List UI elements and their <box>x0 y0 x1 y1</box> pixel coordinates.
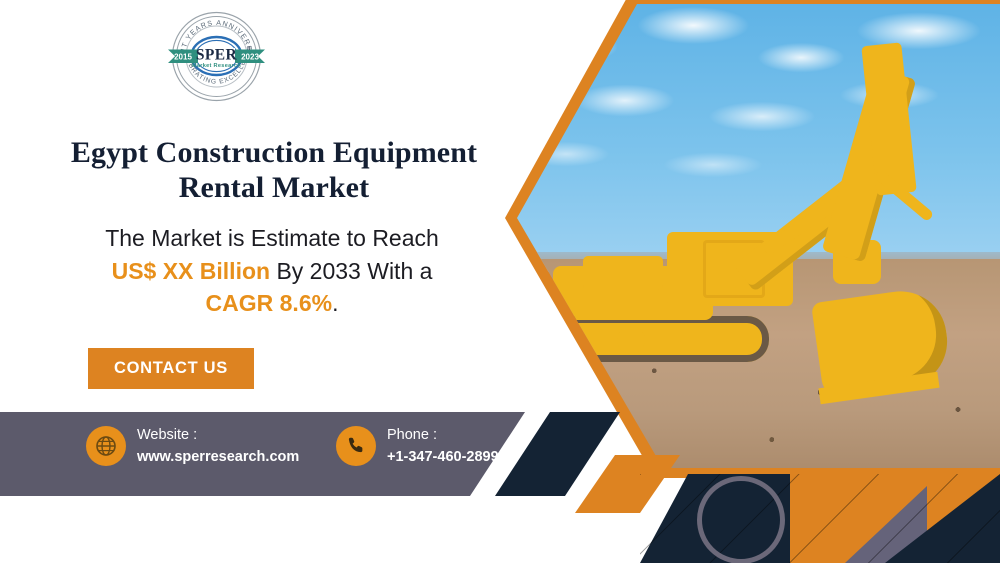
subtitle-line-3-rest: . <box>332 290 338 316</box>
hero-image-hexagon <box>505 0 1000 478</box>
globe-glyph <box>95 435 117 457</box>
svg-text:Market Research: Market Research <box>192 63 242 69</box>
globe-icon <box>86 426 126 466</box>
website-label: Website : <box>137 427 197 443</box>
value-highlight: US$ XX Billion <box>112 258 270 284</box>
website-contact[interactable]: Website : www.sperresearch.com <box>86 424 299 467</box>
phone-label: Phone : <box>387 427 437 443</box>
phone-contact[interactable]: Phone : +1-347-460-2899 <box>336 424 499 467</box>
contact-us-button[interactable]: CONTACT US <box>88 348 254 389</box>
svg-text:2023: 2023 <box>241 53 259 62</box>
title-line-2: Rental Market <box>44 171 504 206</box>
excavator-engine-cover <box>583 256 663 290</box>
cagr-highlight: CAGR 8.6% <box>206 290 333 316</box>
svg-text:®: ® <box>247 45 251 52</box>
svg-text:2015: 2015 <box>174 53 192 62</box>
decor-diagonal-lines <box>640 474 1000 563</box>
phone-glyph <box>346 435 367 456</box>
title-line-1: Egypt Construction Equipment <box>44 136 504 171</box>
subtitle-line-3: CAGR 8.6%. <box>22 287 522 320</box>
marketing-banner: EIGHT YEARS ANNIVERSARY CELEBRATING EXCE… <box>0 0 1000 563</box>
sper-logo-badge: EIGHT YEARS ANNIVERSARY CELEBRATING EXCE… <box>168 9 265 104</box>
website-value: www.sperresearch.com <box>137 449 299 465</box>
excavator-wheel <box>617 326 645 354</box>
decor-corner-pattern <box>640 474 1000 563</box>
subtitle-line-2: US$ XX Billion By 2033 With a <box>22 255 522 288</box>
svg-text:SPER: SPER <box>196 46 238 63</box>
subtitle: The Market is Estimate to Reach US$ XX B… <box>22 222 522 320</box>
phone-value: +1-347-460-2899 <box>387 449 499 465</box>
phone-icon <box>336 426 376 466</box>
decor-circle-outline <box>697 476 785 563</box>
subtitle-line-2-rest: By 2033 With a <box>270 258 432 284</box>
page-title: Egypt Construction Equipment Rental Mark… <box>44 136 504 206</box>
anniversary-seal-icon: EIGHT YEARS ANNIVERSARY CELEBRATING EXCE… <box>168 9 265 104</box>
website-text: Website : www.sperresearch.com <box>137 424 299 467</box>
subtitle-line-1: The Market is Estimate to Reach <box>22 222 522 255</box>
phone-text: Phone : +1-347-460-2899 <box>387 424 499 467</box>
